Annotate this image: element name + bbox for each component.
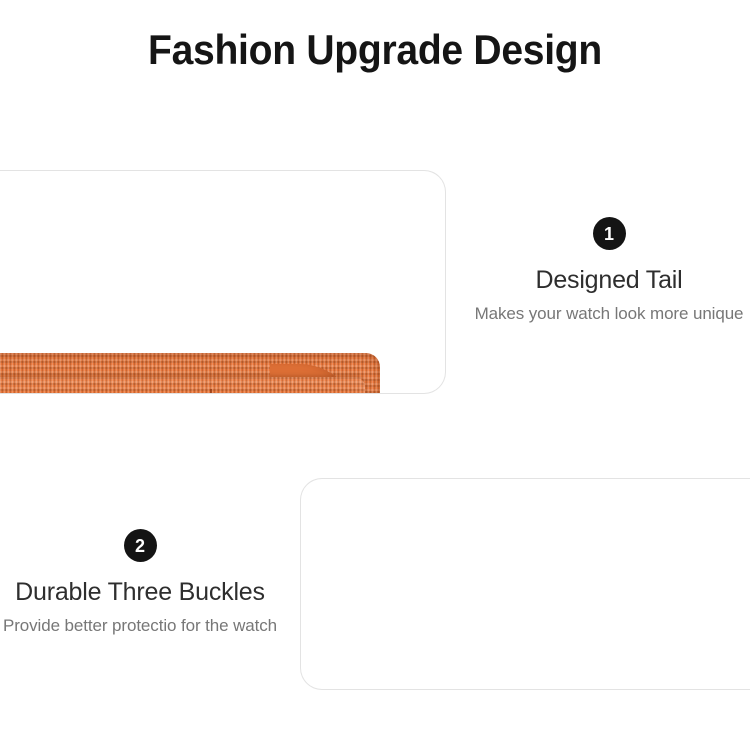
photo-card-three-buckles bbox=[300, 478, 750, 690]
feature-badge-1: 1 bbox=[593, 217, 626, 250]
feature-description-2: Provide better protectio for the watch bbox=[0, 614, 280, 638]
feature-block-2: 2 Durable Three Buckles Provide better p… bbox=[0, 529, 280, 638]
feature-badge-2: 2 bbox=[124, 529, 157, 562]
feature-description-1: Makes your watch look more unique bbox=[469, 302, 749, 326]
strap-webbing-front bbox=[0, 377, 365, 394]
photo-card-designed-tail: KB 05 SWEATPROOF DURABLE TENACITY Kalebo… bbox=[0, 170, 446, 394]
infographic-page: Fashion Upgrade Design KB 05 bbox=[0, 0, 750, 750]
page-title: Fashion Upgrade Design bbox=[26, 26, 724, 74]
feature-title-2: Durable Three Buckles bbox=[0, 578, 280, 607]
stitch-line bbox=[210, 389, 212, 394]
feature-block-1: 1 Designed Tail Makes your watch look mo… bbox=[469, 217, 749, 326]
feature-title-1: Designed Tail bbox=[469, 266, 749, 295]
